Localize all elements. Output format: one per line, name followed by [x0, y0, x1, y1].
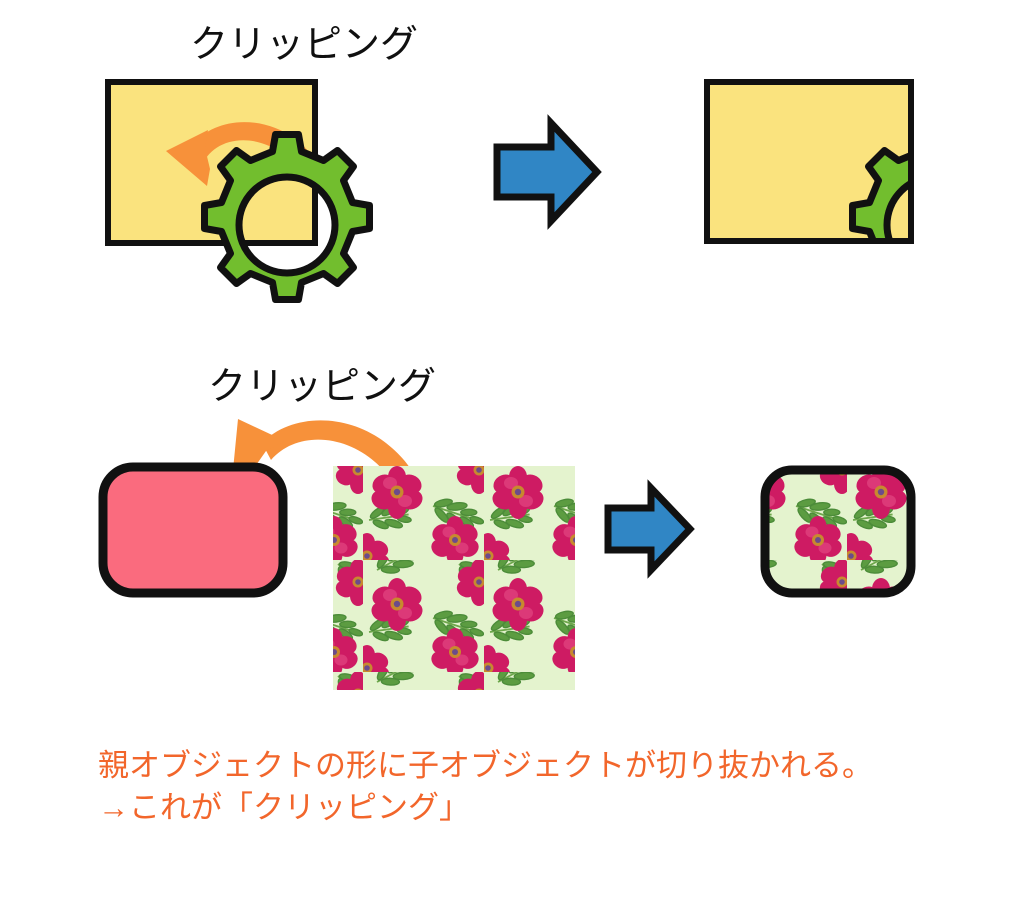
row1-clipping-label: クリッピング	[190, 26, 418, 64]
row2-result-group	[765, 470, 911, 593]
caption-line-1: 親オブジェクトの形に子オブジェクトが切り抜かれる。	[98, 745, 873, 787]
pink-parent-rounded-rectangle	[103, 467, 283, 593]
yellow-parent-rectangle	[108, 82, 315, 243]
curved-arrow-icon	[166, 122, 314, 186]
flower-result-rounded-rectangle	[765, 470, 911, 593]
caption-line-2: →これが「クリッピング」	[98, 787, 873, 829]
row1-transform-arrow	[497, 123, 597, 221]
row1-source-group	[108, 82, 370, 300]
yellow-result-rectangle	[707, 82, 911, 241]
caption-block: 親オブジェクトの形に子オブジェクトが切り抜かれる。 →これが「クリッピング」	[98, 745, 873, 829]
row2-curved-arrow-icon	[233, 419, 410, 481]
row2-transform-arrow	[608, 488, 690, 570]
diagram-canvas: クリッピング クリッピング 親オブジェクトの形に子オブジェクトが切り抜かれる。 …	[0, 0, 1024, 910]
row1-result-group	[707, 82, 1018, 300]
clipped-gear-icon	[853, 135, 1018, 300]
green-gear-icon	[205, 135, 370, 300]
flower-pattern-square	[333, 466, 575, 690]
row2-clipping-label: クリッピング	[208, 368, 436, 406]
